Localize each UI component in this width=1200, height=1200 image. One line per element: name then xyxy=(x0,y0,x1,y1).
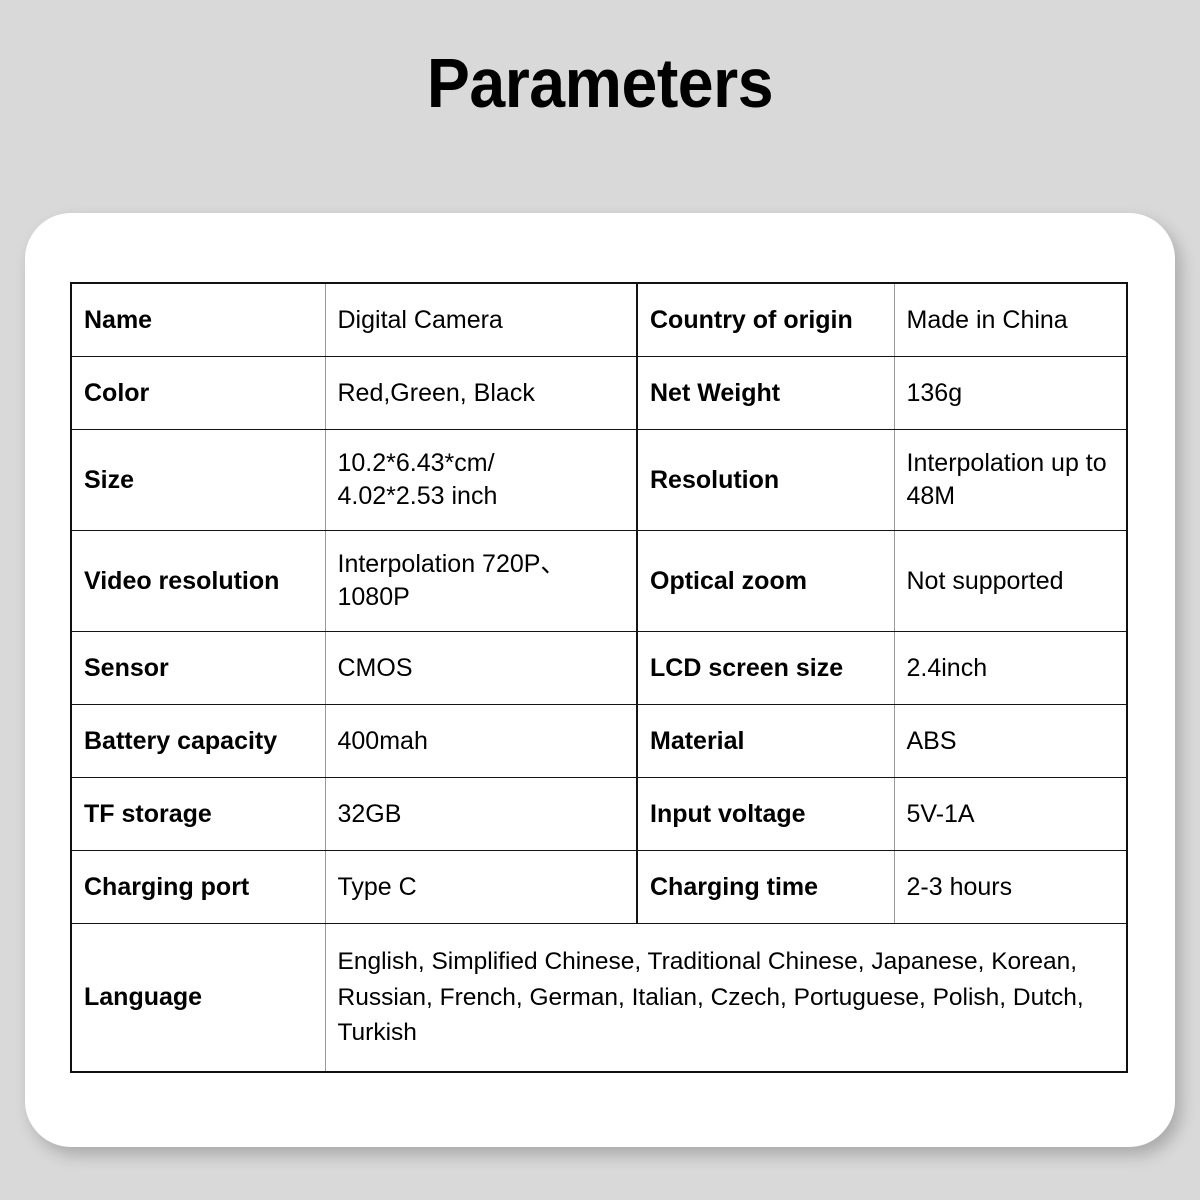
spec-value-left: Interpolation 720P、1080P xyxy=(325,531,637,632)
spec-value-left: CMOS xyxy=(325,632,637,705)
spec-value-right: Made in China xyxy=(894,283,1127,357)
table-row: Battery capacity400mahMaterialABS xyxy=(71,705,1127,778)
spec-label-right: Country of origin xyxy=(637,283,894,357)
spec-label-left: Name xyxy=(71,283,325,357)
spec-value-right: Interpolation up to 48M xyxy=(894,430,1127,531)
spec-label-left: Charging port xyxy=(71,851,325,924)
spec-label-left: Battery capacity xyxy=(71,705,325,778)
spec-label-right: Resolution xyxy=(637,430,894,531)
spec-value-language: English, Simplified Chinese, Traditional… xyxy=(325,924,1127,1073)
spec-value-left: 10.2*6.43*cm/4.02*2.53 inch xyxy=(325,430,637,531)
spec-label-right: Net Weight xyxy=(637,357,894,430)
spec-label-left: Color xyxy=(71,357,325,430)
table-row: Video resolutionInterpolation 720P、1080P… xyxy=(71,531,1127,632)
spec-label-right: Charging time xyxy=(637,851,894,924)
spec-table-body: NameDigital CameraCountry of originMade … xyxy=(71,283,1127,1072)
spec-value-left: Red,Green, Black xyxy=(325,357,637,430)
spec-label-language: Language xyxy=(71,924,325,1073)
spec-label-right: Optical zoom xyxy=(637,531,894,632)
table-row: TF storage32GBInput voltage5V-1A xyxy=(71,778,1127,851)
table-row: Charging portType CCharging time2-3 hour… xyxy=(71,851,1127,924)
table-row: NameDigital CameraCountry of originMade … xyxy=(71,283,1127,357)
table-row: Size10.2*6.43*cm/4.02*2.53 inchResolutio… xyxy=(71,430,1127,531)
spec-value-left: Type C xyxy=(325,851,637,924)
spec-value-right: ABS xyxy=(894,705,1127,778)
spec-label-left: Video resolution xyxy=(71,531,325,632)
spec-label-left: Size xyxy=(71,430,325,531)
spec-value-right: 2-3 hours xyxy=(894,851,1127,924)
table-row: SensorCMOSLCD screen size2.4inch xyxy=(71,632,1127,705)
page-title: Parameters xyxy=(48,48,1152,118)
specification-table: NameDigital CameraCountry of originMade … xyxy=(70,282,1128,1073)
spec-value-right: 2.4inch xyxy=(894,632,1127,705)
table-row: ColorRed,Green, BlackNet Weight136g xyxy=(71,357,1127,430)
spec-value-left: 400mah xyxy=(325,705,637,778)
spec-value-left: 32GB xyxy=(325,778,637,851)
spec-value-right: Not supported xyxy=(894,531,1127,632)
spec-value-left: Digital Camera xyxy=(325,283,637,357)
spec-value-right: 5V-1A xyxy=(894,778,1127,851)
spec-label-left: Sensor xyxy=(71,632,325,705)
spec-label-left: TF storage xyxy=(71,778,325,851)
spec-value-right: 136g xyxy=(894,357,1127,430)
table-row-language: LanguageEnglish, Simplified Chinese, Tra… xyxy=(71,924,1127,1073)
parameters-card: NameDigital CameraCountry of originMade … xyxy=(25,213,1175,1147)
spec-label-right: Material xyxy=(637,705,894,778)
spec-label-right: LCD screen size xyxy=(637,632,894,705)
spec-label-right: Input voltage xyxy=(637,778,894,851)
